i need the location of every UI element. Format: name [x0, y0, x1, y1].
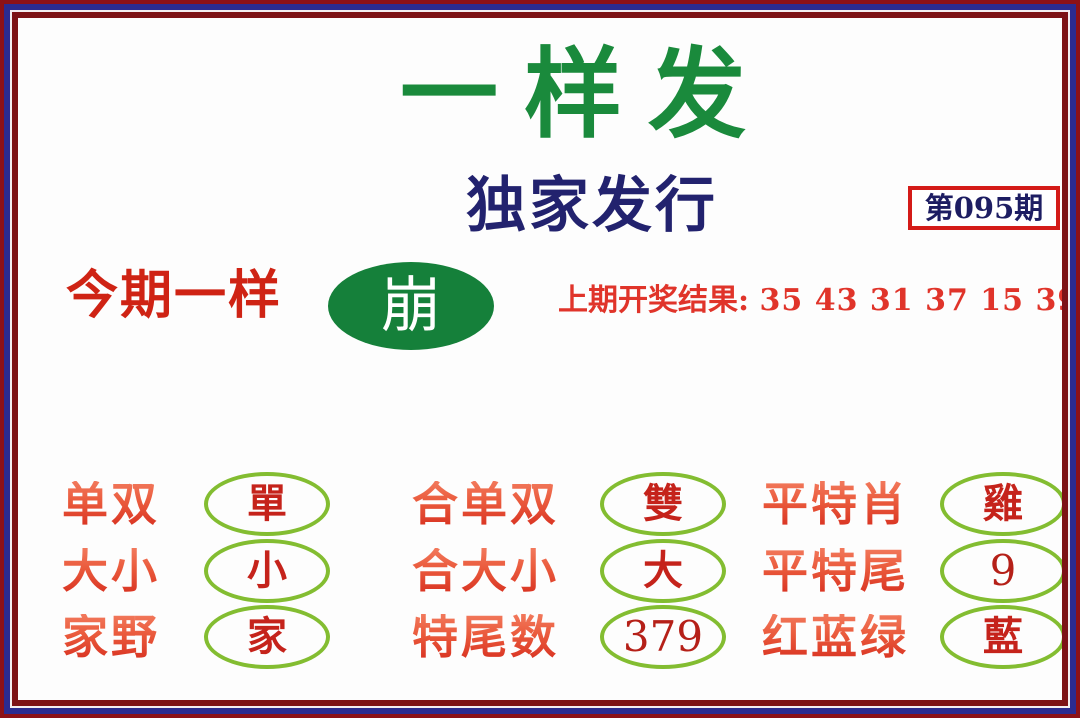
- prediction-value: 小: [247, 551, 287, 591]
- frame-light-band: 一样发 独家发行 第095期 今期一样 崩 上期开奖结果: 35 43 31 3…: [10, 10, 1070, 708]
- prediction-value: 379: [623, 616, 703, 658]
- poster-outer-frame: 一样发 独家发行 第095期 今期一样 崩 上期开奖结果: 35 43 31 3…: [0, 0, 1080, 718]
- prediction-cell-jiaye: 家野 家: [52, 604, 392, 670]
- prediction-value-ellipse: 單: [204, 472, 330, 536]
- poster-canvas: 一样发 独家发行 第095期 今期一样 崩 上期开奖结果: 35 43 31 3…: [18, 18, 1062, 700]
- prediction-value-ellipse: 雞: [940, 472, 1062, 536]
- prediction-value-ellipse: 大: [600, 539, 726, 603]
- prediction-cell-teweishu: 特尾数 379: [392, 604, 742, 670]
- prediction-label: 单双: [52, 481, 160, 527]
- prediction-value: 大: [643, 551, 683, 591]
- prediction-value: 9: [990, 550, 1017, 592]
- prediction-label: 平特尾: [742, 548, 909, 594]
- prediction-label: 大小: [52, 548, 160, 594]
- prediction-cell-hedanshuang: 合单双 雙: [392, 470, 742, 538]
- issue-badge-label: 第095期: [925, 194, 1044, 223]
- poster-subheadline: 独家发行: [466, 176, 718, 236]
- prediction-label: 合单双: [392, 481, 559, 527]
- prediction-label: 家野: [52, 614, 160, 660]
- prediction-value: 雙: [643, 484, 683, 524]
- prediction-value: 家: [247, 617, 287, 657]
- prediction-label: 合大小: [392, 548, 559, 594]
- prediction-cell-danshuang: 单双 單: [52, 470, 392, 538]
- prediction-label: 特尾数: [392, 614, 559, 660]
- prediction-value-ellipse: 家: [204, 605, 330, 669]
- prediction-value-ellipse: 小: [204, 539, 330, 603]
- previous-draw-result-label: 上期开奖结果:: [558, 283, 749, 318]
- issue-badge: 第095期: [908, 186, 1060, 230]
- today-prediction-label: 今期一样: [66, 270, 282, 322]
- prediction-value-ellipse: 9: [940, 539, 1062, 603]
- prediction-value: 雞: [983, 484, 1023, 524]
- prediction-value-ellipse: 379: [600, 605, 726, 669]
- today-prediction-value: 崩: [381, 276, 441, 336]
- prediction-value-ellipse: 雙: [600, 472, 726, 536]
- prediction-cell-honglanlv: 红蓝绿 藍: [742, 604, 1062, 670]
- prediction-cell-pingtexiao: 平特肖 雞: [742, 470, 1062, 538]
- prediction-value: 藍: [983, 617, 1023, 657]
- prediction-cell-pingtewei: 平特尾 9: [742, 538, 1062, 604]
- prediction-label: 红蓝绿: [742, 614, 909, 660]
- prediction-label: 平特肖: [742, 481, 909, 527]
- prediction-grid: 单双 單 合单双 雙 平特肖: [52, 470, 1062, 670]
- prediction-cell-daxiao: 大小 小: [52, 538, 392, 604]
- previous-draw-result: 上期开奖结果: 35 43 31 37 15 39+33: [558, 286, 1062, 316]
- previous-draw-result-numbers: 35 43 31 37 15 39+33: [760, 283, 1062, 318]
- prediction-cell-hedaxiao: 合大小 大: [392, 538, 742, 604]
- poster-headline: 一样发: [273, 46, 873, 144]
- prediction-value: 單: [247, 484, 287, 524]
- today-prediction-ellipse: 崩: [328, 262, 494, 350]
- frame-blue-band: 一样发 独家发行 第095期 今期一样 崩 上期开奖结果: 35 43 31 3…: [4, 4, 1076, 714]
- prediction-value-ellipse: 藍: [940, 605, 1062, 669]
- frame-inner-red-band: 一样发 独家发行 第095期 今期一样 崩 上期开奖结果: 35 43 31 3…: [12, 12, 1068, 706]
